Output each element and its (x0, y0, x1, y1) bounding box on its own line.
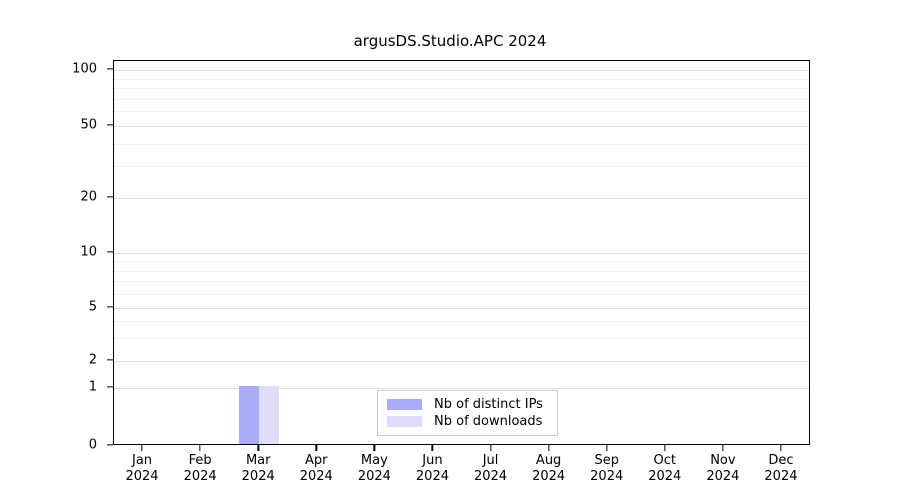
legend-swatch (387, 416, 422, 427)
y-axis-tick-label: 5 (89, 301, 97, 314)
bars-layer (114, 61, 809, 444)
x-axis-tick-month: Jun (416, 453, 449, 469)
x-axis-tick-month: Oct (648, 453, 681, 469)
x-axis-tick-label: Feb2024 (184, 453, 217, 485)
x-axis-tick-year: 2024 (590, 469, 623, 485)
x-axis-tick-label: Aug2024 (532, 453, 565, 485)
x-axis-tick-mark (490, 445, 491, 451)
x-axis-tick-year: 2024 (416, 469, 449, 485)
legend-label: Nb of distinct IPs (434, 398, 543, 411)
x-axis-tick-month: Sep (590, 453, 623, 469)
y-axis-tick-label: 1 (89, 381, 97, 394)
x-axis-tick-mark (664, 445, 665, 451)
x-axis-tick-month: Jan (125, 453, 158, 469)
y-axis-tick-label: 100 (72, 63, 97, 76)
x-axis-tick-year: 2024 (648, 469, 681, 485)
x-axis-tick-mark (432, 445, 433, 451)
chart-title: argusDS.Studio.APC 2024 (0, 32, 900, 50)
x-axis-tick-month: Dec (764, 453, 797, 469)
x-axis-tick-year: 2024 (706, 469, 739, 485)
x-axis-tick-label: Jun2024 (416, 453, 449, 485)
chart-legend: Nb of distinct IPsNb of downloads (377, 390, 558, 436)
y-axis-tick-label: 2 (89, 354, 97, 367)
x-axis-tick-label: Jul2024 (474, 453, 507, 485)
x-axis-tick-year: 2024 (242, 469, 275, 485)
x-axis-tick-month: Apr (300, 453, 333, 469)
x-axis-tick-mark (141, 445, 142, 451)
x-axis-tick-month: Aug (532, 453, 565, 469)
legend-label: Nb of downloads (434, 415, 542, 428)
x-axis-tick-year: 2024 (358, 469, 391, 485)
x-axis-tick-mark (606, 445, 607, 451)
x-axis-tick-mark (722, 445, 723, 451)
bar (259, 386, 279, 444)
x-axis-tick-year: 2024 (125, 469, 158, 485)
x-axis-tick-year: 2024 (532, 469, 565, 485)
x-axis-tick-year: 2024 (184, 469, 217, 485)
x-axis-tick-label: May2024 (358, 453, 391, 485)
x-axis-tick-month: Mar (242, 453, 275, 469)
x-axis-tick-label: Jan2024 (125, 453, 158, 485)
x-axis-tick-label: Mar2024 (242, 453, 275, 485)
x-axis-tick-month: Feb (184, 453, 217, 469)
x-axis-tick-year: 2024 (474, 469, 507, 485)
x-axis-tick-mark (316, 445, 317, 451)
x-axis-tick-year: 2024 (300, 469, 333, 485)
y-axis-tick-label: 10 (80, 246, 97, 259)
x-axis-tick-mark (548, 445, 549, 451)
y-axis: 1005020105210 (0, 0, 113, 500)
x-axis-tick-label: Oct2024 (648, 453, 681, 485)
x-axis: Jan2024Feb2024Mar2024Apr2024May2024Jun20… (0, 445, 900, 500)
x-axis-tick-label: Dec2024 (764, 453, 797, 485)
legend-swatch (387, 399, 422, 410)
bar (239, 386, 259, 444)
x-axis-tick-mark (780, 445, 781, 451)
legend-item[interactable]: Nb of downloads (387, 413, 548, 430)
chart-figure: argusDS.Studio.APC 2024 1005020105210 Ja… (0, 0, 900, 500)
x-axis-tick-month: Jul (474, 453, 507, 469)
y-axis-tick-label: 50 (80, 119, 97, 132)
x-axis-tick-label: Sep2024 (590, 453, 623, 485)
x-axis-tick-month: May (358, 453, 391, 469)
legend-item[interactable]: Nb of distinct IPs (387, 396, 548, 413)
x-axis-tick-mark (258, 445, 259, 451)
plot-area (113, 60, 810, 445)
x-axis-tick-label: Apr2024 (300, 453, 333, 485)
x-axis-tick-mark (199, 445, 200, 451)
y-axis-tick-label: 20 (80, 191, 97, 204)
x-axis-tick-label: Nov2024 (706, 453, 739, 485)
x-axis-tick-month: Nov (706, 453, 739, 469)
x-axis-tick-year: 2024 (764, 469, 797, 485)
x-axis-tick-mark (374, 445, 375, 451)
